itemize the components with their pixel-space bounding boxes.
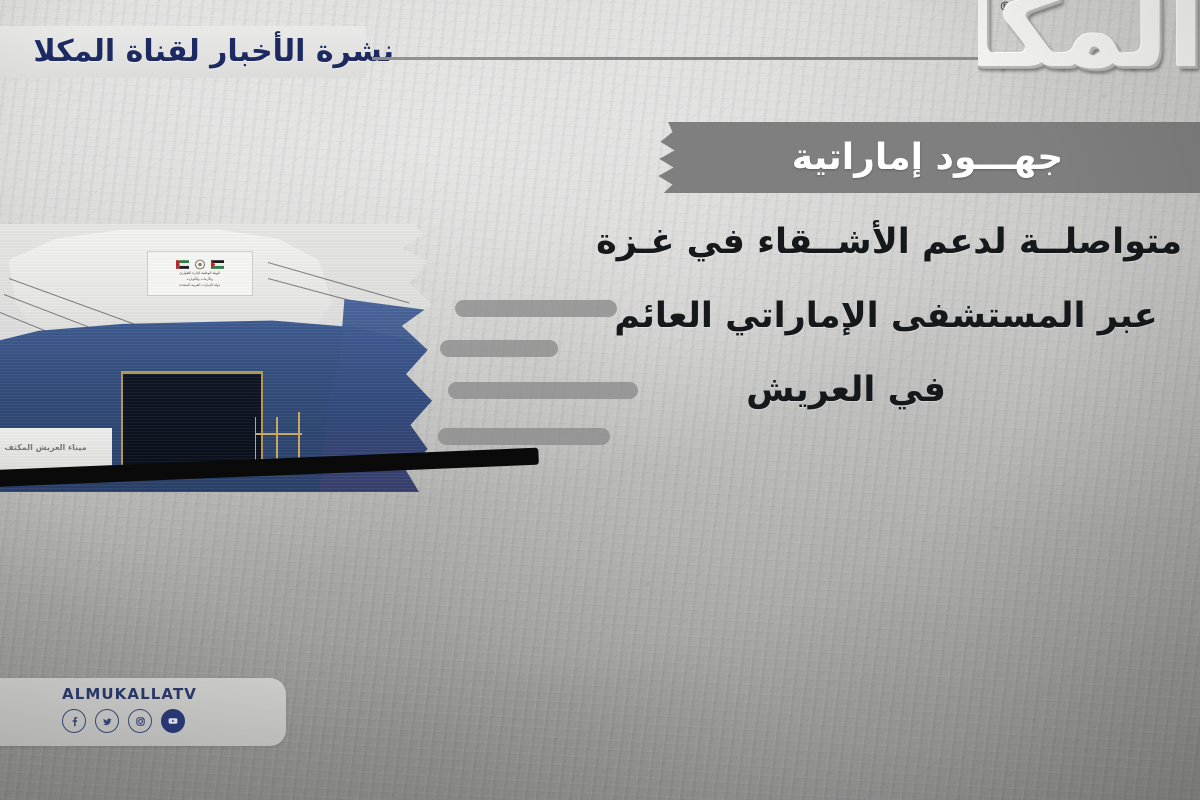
- news-photo: الهيئة الوطنية لإدارة الطوارئ والأزمات و…: [0, 224, 432, 492]
- photo-scanline-overlay: [0, 224, 432, 492]
- channel-logo: ® المكلا: [978, 0, 1200, 88]
- facebook-icon[interactable]: [62, 709, 86, 733]
- headline-line-1: متواصلــة لدعم الأشــقاء في غـزة: [622, 205, 1182, 279]
- youtube-glyph: [167, 715, 179, 727]
- social-bar: ALMUKALLATV: [0, 678, 286, 746]
- channel-logo-wordmark: المكلا: [978, 0, 1200, 82]
- header-rule: [372, 57, 1062, 60]
- instagram-glyph: [135, 716, 146, 727]
- decor-speed-bar: [438, 428, 610, 445]
- headline-line-2: عبر المستشفى الإماراتي العائم: [606, 279, 1166, 353]
- decor-speed-bar: [440, 340, 558, 357]
- youtube-icon[interactable]: [161, 709, 185, 733]
- decor-speed-bar: [455, 300, 617, 317]
- twitter-icon[interactable]: [95, 709, 119, 733]
- program-banner: نشرة الأخبار لقناة المكلا: [0, 26, 366, 78]
- social-handle: ALMUKALLATV: [62, 687, 286, 702]
- news-lower-third-graphic: نشرة الأخبار لقناة المكلا ® المكلا: [0, 0, 1200, 800]
- headline-kicker-band: جهـــود إماراتية: [655, 122, 1200, 193]
- program-banner-text: نشرة الأخبار لقناة المكلا: [33, 37, 394, 67]
- instagram-icon[interactable]: [128, 709, 152, 733]
- facebook-glyph: [69, 716, 80, 727]
- twitter-glyph: [102, 716, 113, 727]
- headline-line-3: في العريش: [566, 353, 1126, 427]
- headline-body: متواصلــة لدعم الأشــقاء في غـزة عبر الم…: [640, 205, 1200, 427]
- social-icon-row: [62, 709, 286, 733]
- headline-kicker-text: جهـــود إماراتية: [792, 137, 1063, 178]
